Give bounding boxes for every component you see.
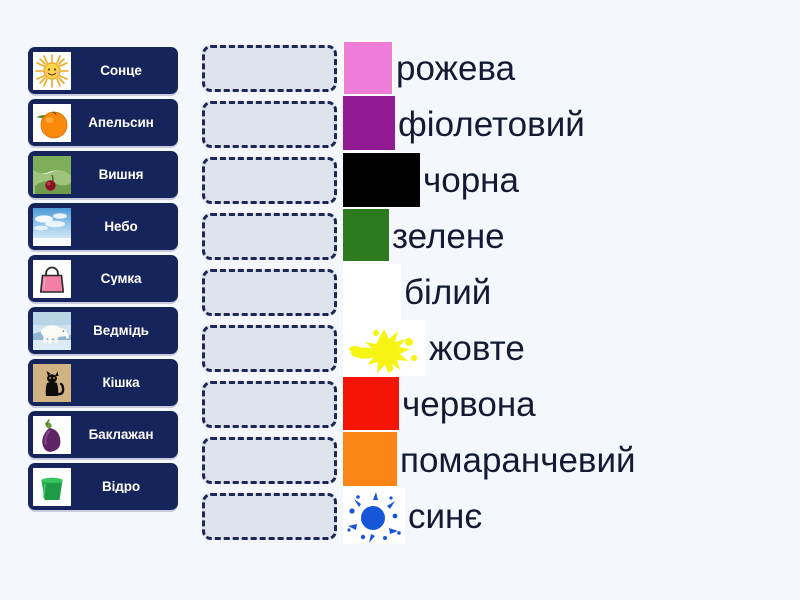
color-name-label: червона [399,387,536,422]
word-card-label: Сонце [71,64,173,78]
color-row-bilyi: білий [343,264,783,320]
color-name-label: чорна [420,163,519,198]
color-name-label: фіолетовий [395,107,585,142]
black-cat-icon [33,364,71,402]
word-card-vidro[interactable]: Відро [28,463,178,510]
orange-square-swatch [343,432,397,488]
color-row-synye: синє [343,488,783,544]
cherry-icon [33,156,71,194]
handbag-icon [33,260,71,298]
color-row-pomaranchevyi: помаранчевий [343,432,783,488]
red-square-swatch [343,376,399,432]
color-name-label: помаранчевий [397,443,636,478]
match-up-activity-board: Сонце Апельсин [0,0,800,600]
word-card-label: Сумка [71,272,173,286]
green-square-swatch [343,208,389,264]
word-card-label: Небо [71,220,173,234]
color-row-fioletovyi: фіолетовий [343,96,783,152]
purple-square-swatch [343,96,395,152]
color-row-chervona: червона [343,376,783,432]
word-card-vyshnya[interactable]: Вишня [28,151,178,198]
pink-square-swatch [343,40,393,96]
word-card-label: Кішка [71,376,173,390]
word-card-list: Сонце Апельсин [28,47,178,510]
color-name-label: рожева [393,51,515,86]
polar-bear-icon [33,312,71,350]
drop-zone-3[interactable] [202,157,337,204]
white-square-swatch [343,264,401,320]
color-row-zelene: зелене [343,208,783,264]
word-card-label: Ведмідь [71,324,173,338]
blue-splat-swatch [343,488,405,544]
word-card-vedmid[interactable]: Ведмідь [28,307,178,354]
word-card-apelsyn[interactable]: Апельсин [28,99,178,146]
drop-zone-1[interactable] [202,45,337,92]
word-card-nebo[interactable]: Небо [28,203,178,250]
word-card-label: Апельсин [71,116,173,130]
drop-zone-9[interactable] [202,493,337,540]
drop-zone-4[interactable] [202,213,337,260]
word-card-sumka[interactable]: Сумка [28,255,178,302]
word-card-sonce[interactable]: Сонце [28,47,178,94]
sky-clouds-icon [33,208,71,246]
sun-icon [33,52,71,90]
black-square-swatch [343,152,420,208]
drop-zone-5[interactable] [202,269,337,316]
drop-zone-7[interactable] [202,381,337,428]
drop-zone-8[interactable] [202,437,337,484]
yellow-splat-swatch [343,320,426,376]
eggplant-icon [33,416,71,454]
color-name-label: зелене [389,219,505,254]
word-card-kishka[interactable]: Кішка [28,359,178,406]
word-card-label: Відро [71,480,173,494]
color-name-label: білий [401,275,491,310]
word-card-label: Вишня [71,168,173,182]
drop-zone-list [202,45,337,540]
color-row-chorna: чорна [343,152,783,208]
color-name-label: синє [405,499,482,534]
drop-zone-6[interactable] [202,325,337,372]
bucket-icon [33,468,71,506]
color-name-label: жовте [426,331,525,366]
orange-fruit-icon [33,104,71,142]
word-card-baklazhan[interactable]: Баклажан [28,411,178,458]
drop-zone-2[interactable] [202,101,337,148]
color-row-zhovte: жовте [343,320,783,376]
color-answer-list: рожева фіолетовий чорна [343,40,783,544]
word-card-label: Баклажан [71,428,173,442]
color-row-rozheva: рожева [343,40,783,96]
